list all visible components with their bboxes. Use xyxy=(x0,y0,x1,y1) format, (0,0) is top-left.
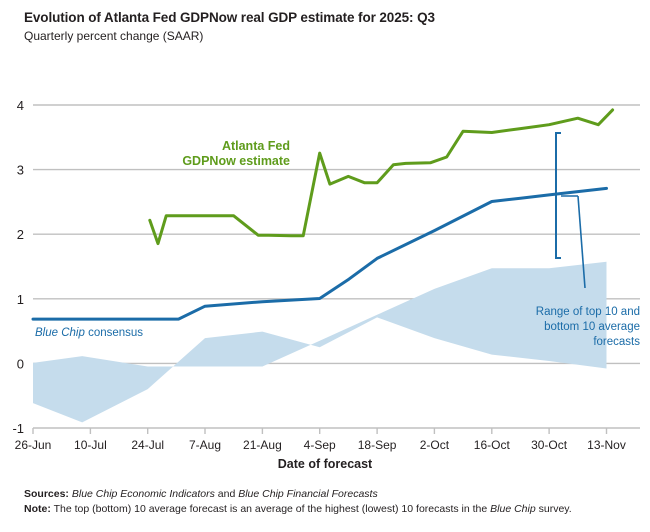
note-text-italic: Blue Chip xyxy=(490,503,536,515)
green-line-path xyxy=(150,110,613,244)
y-axis-labels: 4 3 2 1 0 -1 xyxy=(12,98,24,436)
range-annotation-line3: forecasts xyxy=(593,336,640,348)
xtick-label-5: 4-Sep xyxy=(304,438,336,452)
note-text-2: survey. xyxy=(536,503,572,515)
sources-label: Sources: xyxy=(24,488,69,500)
xtick-label-3: 7-Aug xyxy=(189,438,221,452)
ytick-4: 4 xyxy=(17,98,24,113)
ytick-3: 3 xyxy=(17,163,24,178)
xtick-label-9: 30-Oct xyxy=(531,438,568,452)
note-text-1: The top (bottom) 10 average forecast is … xyxy=(54,503,491,515)
forecast-range-band xyxy=(33,262,607,423)
footnotes: Sources: Blue Chip Economic Indicators a… xyxy=(24,487,634,517)
chart-canvas: 4 3 2 1 0 -1 26-Jun 10-Jul 24-Jul 7-Aug … xyxy=(0,0,650,470)
green-annotation-line1: Atlanta Fed xyxy=(222,139,290,153)
blue-consensus-label: Blue Chip consensus xyxy=(35,327,143,339)
ytick-0: 0 xyxy=(17,356,24,371)
xtick-label-7: 2-Oct xyxy=(420,438,450,452)
xtick-label-0: 26-Jun xyxy=(15,438,52,452)
x-axis: 26-Jun 10-Jul 24-Jul 7-Aug 21-Aug 4-Sep … xyxy=(15,428,640,452)
xtick-label-6: 18-Sep xyxy=(358,438,397,452)
ytick-1: 1 xyxy=(17,292,24,307)
xtick-label-2: 24-Jul xyxy=(131,438,164,452)
note-label: Note: xyxy=(24,503,51,515)
x-axis-title: Date of forecast xyxy=(0,457,650,471)
ytick-neg1: -1 xyxy=(12,421,24,436)
blue-consensus-rest: consensus xyxy=(85,327,143,339)
range-annotation-line1: Range of top 10 and xyxy=(536,306,640,318)
xtick-label-1: 10-Jul xyxy=(74,438,107,452)
xtick-label-10: 13-Nov xyxy=(587,438,626,452)
note-line: Note: The top (bottom) 10 average foreca… xyxy=(24,502,634,517)
sources-and: and xyxy=(215,488,238,500)
band-area xyxy=(33,262,607,423)
ytick-2: 2 xyxy=(17,227,24,242)
blue-consensus-annotation: Blue Chip consensus xyxy=(35,327,143,339)
gdpnow-green-line xyxy=(150,110,613,244)
sources-line: Sources: Blue Chip Economic Indicators a… xyxy=(24,487,634,502)
blue-consensus-italic: Blue Chip xyxy=(35,327,85,339)
xtick-label-8: 16-Oct xyxy=(474,438,511,452)
sources-pub-2: Blue Chip Financial Forecasts xyxy=(238,488,377,500)
bracket-shape xyxy=(556,133,561,258)
green-annotation-line2: GDPNow estimate xyxy=(182,154,290,168)
chart-page: Evolution of Atlanta Fed GDPNow real GDP… xyxy=(0,0,650,532)
xtick-label-4: 21-Aug xyxy=(243,438,282,452)
sources-pub-1: Blue Chip Economic Indicators xyxy=(72,488,215,500)
green-series-annotation: Atlanta Fed GDPNow estimate xyxy=(182,139,290,168)
range-annotation-line2: bottom 10 average xyxy=(544,321,640,333)
